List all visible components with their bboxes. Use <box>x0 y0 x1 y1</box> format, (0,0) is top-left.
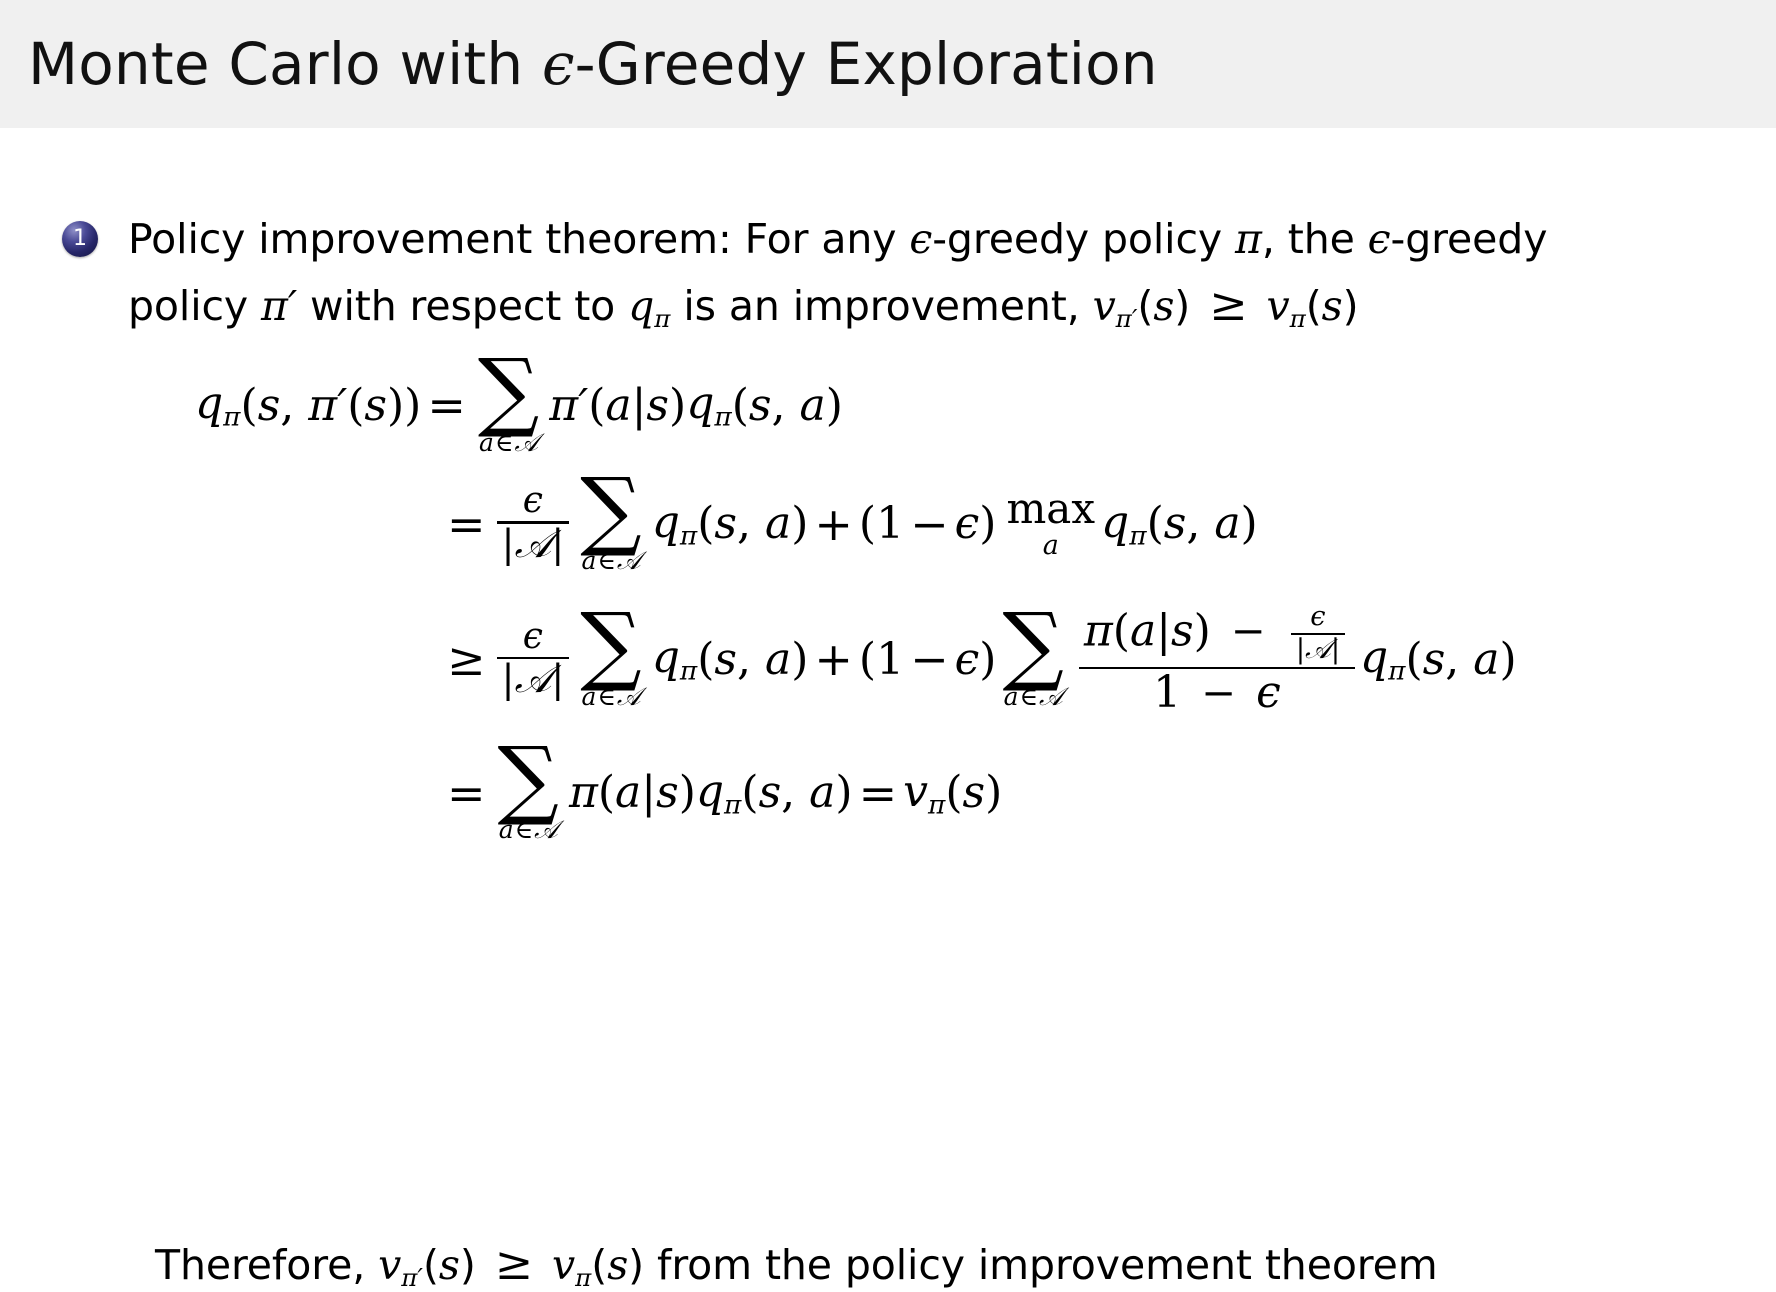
list-item: 1 Policy improvement theorem: For any ϵ-… <box>62 208 1762 340</box>
summation-symbol: ∑ a∈𝒜 <box>580 610 641 709</box>
weight-fraction: π(a|s) − ϵ |𝒜| 1 − ϵ <box>1079 601 1355 717</box>
conclusion-inequality: vπ′(s) ≥ vπ(s) <box>378 1241 644 1289</box>
bullet-text: Policy improvement theorem: For any ϵ-gr… <box>98 208 1762 340</box>
equals-sign: = <box>853 766 904 820</box>
summation-symbol: ∑ a∈𝒜 <box>1002 610 1063 709</box>
proof-equations: qπ(s, π′(s)) = ∑ a∈𝒜 π′(a|s)qπ(s, a) = ϵ… <box>195 356 1755 842</box>
equation-line-2: = ϵ |𝒜| ∑ a∈𝒜 qπ(s, a) + (1−ϵ) max a qπ(… <box>441 475 1755 574</box>
page-title: Monte Carlo with ϵ-Greedy Exploration <box>0 30 1158 98</box>
epsilon-over-cardA-fraction: ϵ |𝒜| <box>497 617 570 702</box>
equals-sign: = <box>441 497 492 551</box>
bullet-line-2: policy π′ with respect to qπ is an impro… <box>128 270 1762 340</box>
bullet-number-badge: 1 <box>62 221 98 257</box>
bullet-line-1: Policy improvement theorem: For any ϵ-gr… <box>128 215 1547 263</box>
equals-sign: = <box>421 378 472 432</box>
title-part-1: Monte Carlo with <box>28 30 542 98</box>
epsilon-over-cardA-fraction: ϵ |𝒜| <box>497 481 570 566</box>
plus-sign: + <box>808 632 859 686</box>
title-part-2: -Greedy Exploration <box>575 30 1158 98</box>
slide-header: Monte Carlo with ϵ-Greedy Exploration <box>0 0 1776 128</box>
equation-line-1: qπ(s, π′(s)) = ∑ a∈𝒜 π′(a|s)qπ(s, a) <box>195 356 1755 455</box>
max-operator: max a <box>1006 488 1095 559</box>
q-pi-term: qπ <box>195 378 241 432</box>
equation-line-3: ≥ ϵ |𝒜| ∑ a∈𝒜 qπ(s, a) + (1−ϵ) ∑ a∈𝒜 π(a… <box>441 601 1755 717</box>
summation-symbol: ∑ a∈𝒜 <box>478 356 539 455</box>
plus-sign: + <box>808 497 859 551</box>
equals-sign: = <box>441 766 492 820</box>
conclusion-text: Therefore, vπ′(s) ≥ vπ(s) from the polic… <box>155 1236 1438 1292</box>
summation-symbol: ∑ a∈𝒜 <box>580 475 641 574</box>
epsilon-over-cardA-fraction-nested: ϵ |𝒜| <box>1291 602 1345 666</box>
conclusion-suffix: from the policy improvement theorem <box>644 1241 1438 1289</box>
slide-body: 1 Policy improvement theorem: For any ϵ-… <box>0 128 1776 1218</box>
title-epsilon-symbol: ϵ <box>542 30 575 98</box>
conclusion-prefix: Therefore, <box>155 1241 378 1289</box>
greater-equal-sign: ≥ <box>441 632 492 686</box>
equation-line-4: = ∑ a∈𝒜 π(a|s)qπ(s, a) = vπ(s) <box>441 744 1755 843</box>
summation-symbol: ∑ a∈𝒜 <box>498 744 559 843</box>
